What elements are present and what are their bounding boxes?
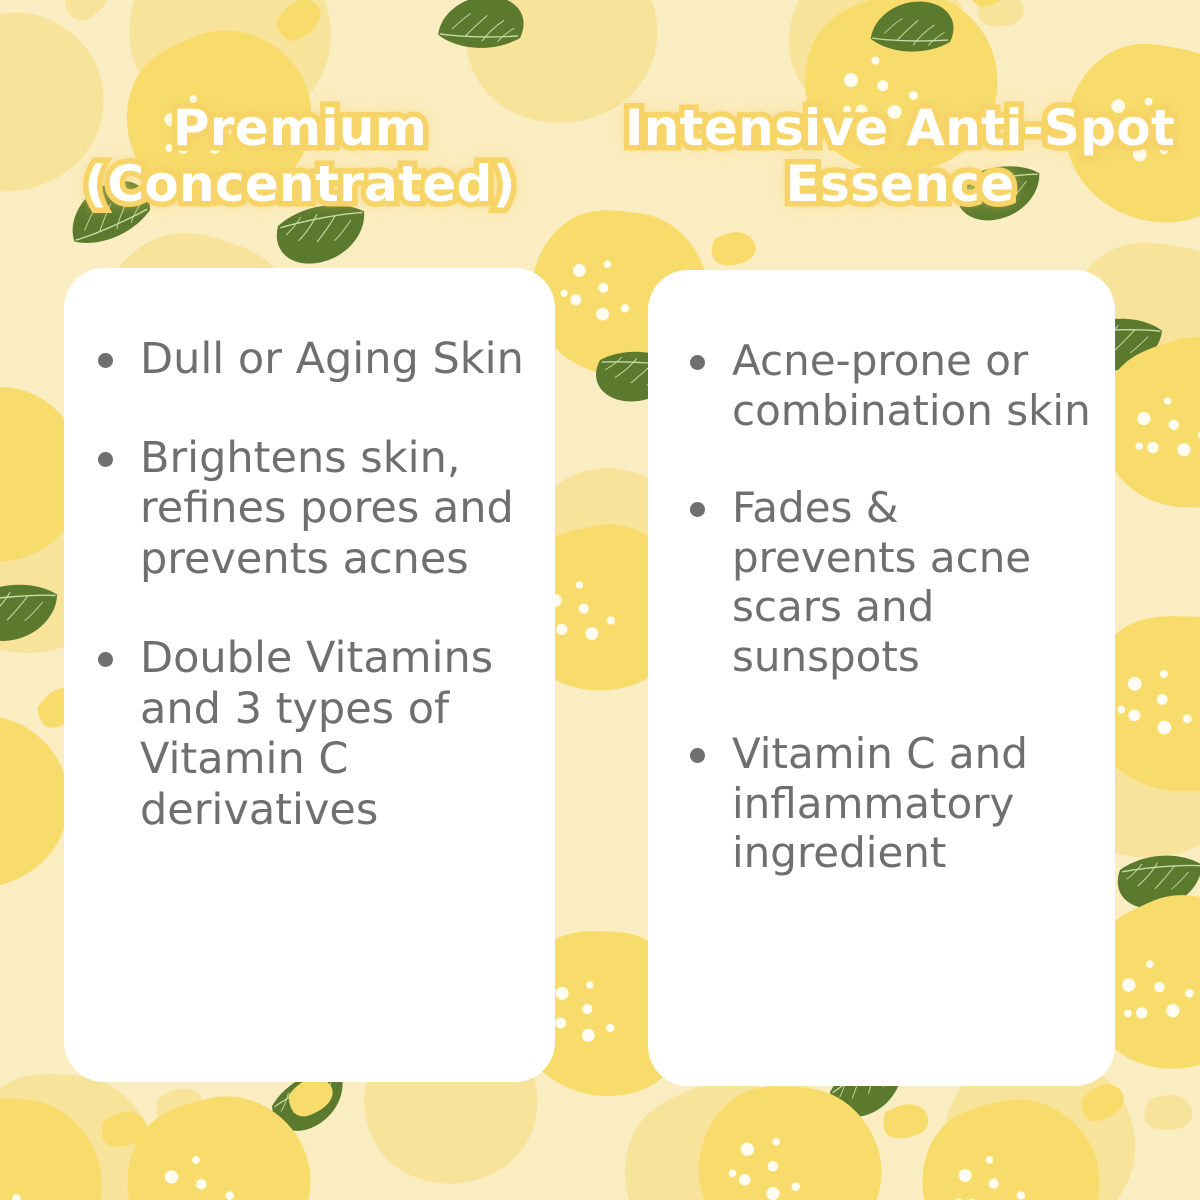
bullet-list-premium: Dull or Aging Skin Brightens skin, refin… (98, 334, 525, 836)
list-item: Vitamin C and inflammatory ingredient (690, 729, 1093, 878)
bullet-dot-icon (98, 452, 113, 467)
bullet-text: Dull or Aging Skin (140, 334, 525, 385)
list-item: Double Vitamins and 3 types of Vitamin C… (98, 633, 525, 836)
feature-card-intensive: Acne-prone or combination skin Fades & p… (648, 270, 1115, 1086)
bullet-list-intensive: Acne-prone or combination skin Fades & p… (690, 336, 1093, 878)
bullet-text: Double Vitamins and 3 types of Vitamin C… (140, 633, 525, 836)
bullet-dot-icon (98, 652, 113, 667)
list-item: Fades & prevents acne scars and sunspots (690, 483, 1093, 681)
bullet-text: Fades & prevents acne scars and sunspots (732, 483, 1093, 681)
bullet-text: Brightens skin, refines pores and preven… (140, 433, 525, 585)
list-item: Dull or Aging Skin (98, 334, 525, 385)
bullet-dot-icon (98, 353, 113, 368)
list-item: Acne-prone or combination skin (690, 336, 1093, 435)
cards-container: Dull or Aging Skin Brightens skin, refin… (0, 268, 1200, 1088)
bullet-dot-icon (690, 502, 705, 517)
bullet-text: Vitamin C and inflammatory ingredient (732, 729, 1093, 878)
bullet-dot-icon (690, 748, 705, 763)
feature-card-premium: Dull or Aging Skin Brightens skin, refin… (64, 268, 555, 1082)
bullet-text: Acne-prone or combination skin (732, 336, 1093, 435)
poster-canvas: Premium (Concentrated) Intensive Anti-Sp… (0, 0, 1200, 1200)
bullet-dot-icon (690, 355, 705, 370)
list-item: Brightens skin, refines pores and preven… (98, 433, 525, 585)
